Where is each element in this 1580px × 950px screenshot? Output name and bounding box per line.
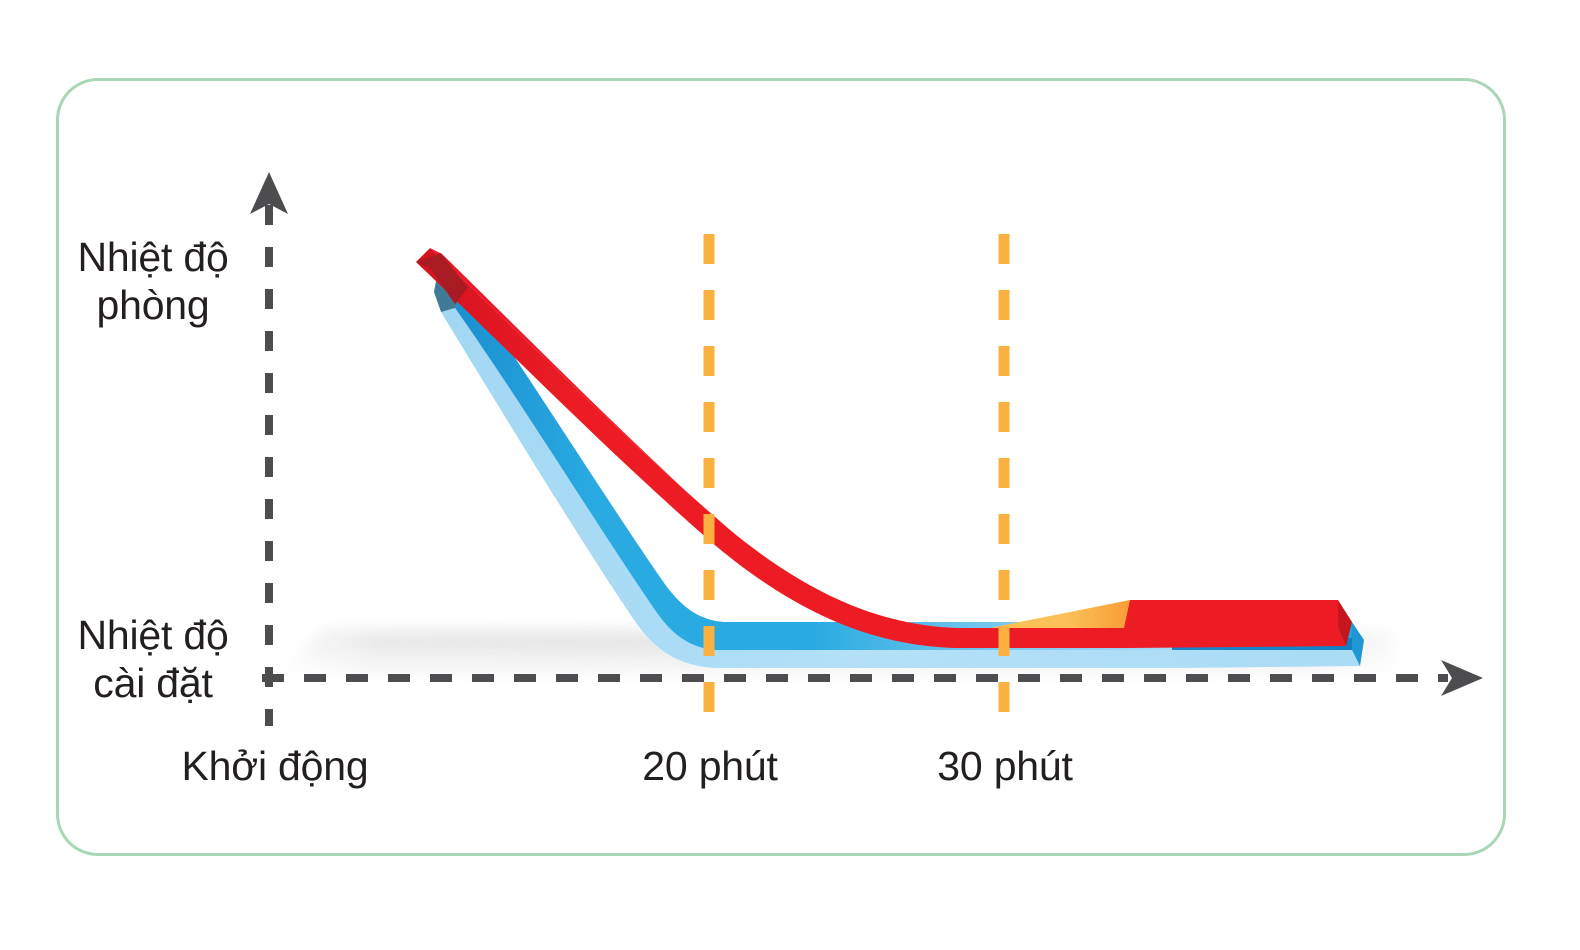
chart-card — [56, 78, 1506, 856]
y-axis-label-set-temperature: Nhiệt độ cài đặt — [42, 611, 264, 708]
x-axis-tick-start: Khởi động — [110, 743, 440, 790]
x-axis-tick-20-minutes: 20 phút — [545, 743, 875, 790]
chart-stage: Nhiệt độ phòng Nhiệt độ cài đặt Khởi độn… — [0, 0, 1580, 950]
y-axis-label-room-temperature: Nhiệt độ phòng — [42, 233, 264, 330]
x-axis-tick-30-minutes: 30 phút — [840, 743, 1170, 790]
